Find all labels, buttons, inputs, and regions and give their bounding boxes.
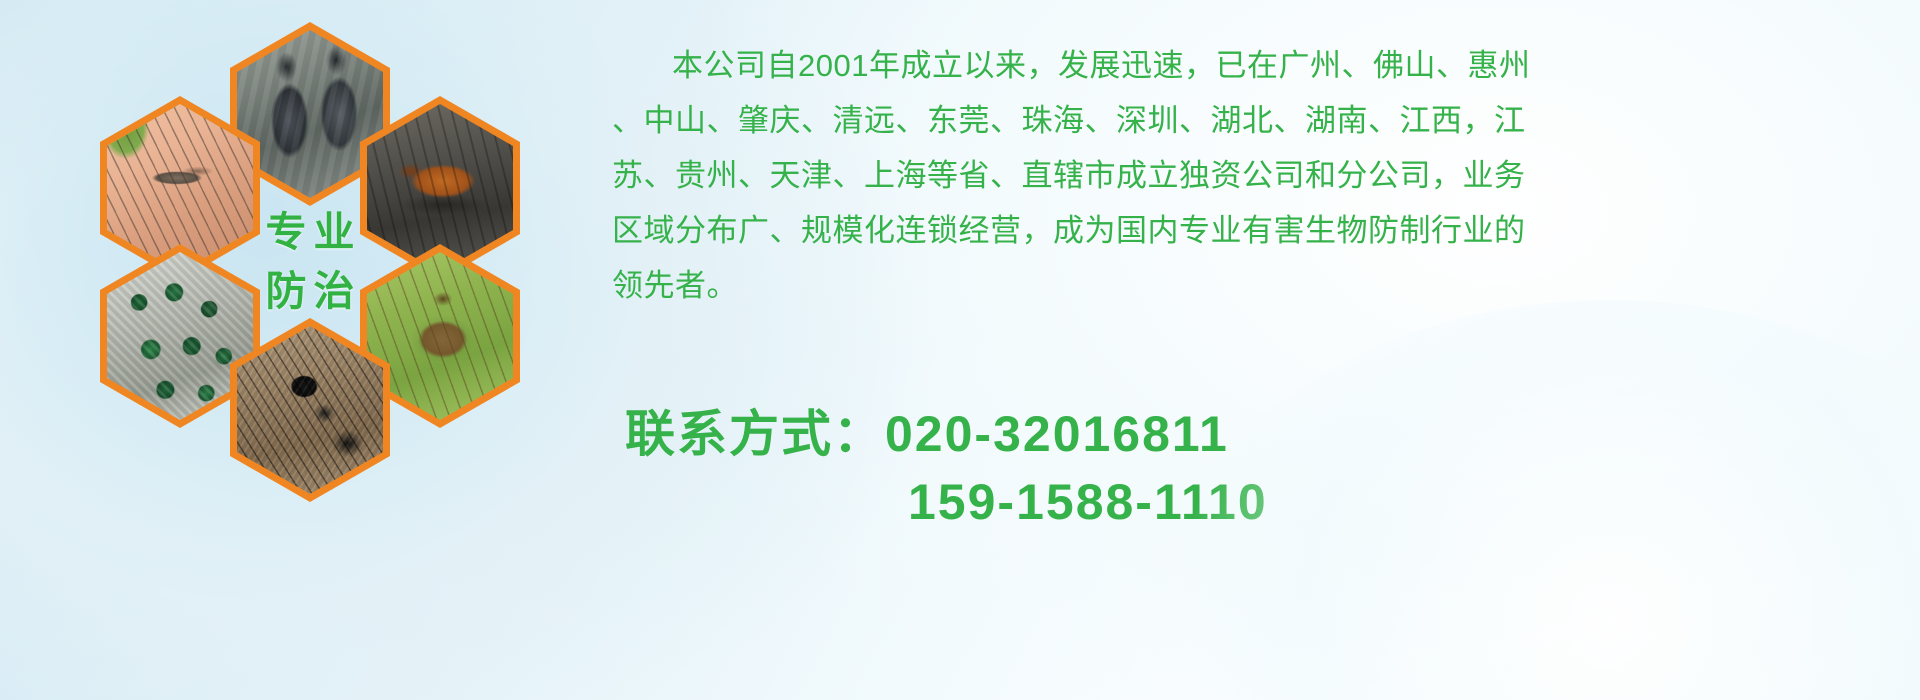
contact-label: 联系方式：: [625, 406, 885, 462]
contact-phone-primary[interactable]: 020-32016811: [885, 406, 1229, 462]
contact-block: 联系方式：020-32016811 159-1588-1110: [625, 400, 1268, 536]
intro-line-2: 、中山、肇庆、清远、东莞、珠海、深圳、湖北、湖南、江西，江: [612, 93, 1902, 148]
intro-line-5: 领先者。: [612, 258, 1902, 313]
slogan-line-1: 专业: [259, 203, 362, 262]
contact-primary-line: 联系方式：020-32016811: [625, 400, 1268, 468]
contact-phone-secondary[interactable]: 159-1588-1110: [625, 468, 1268, 536]
slogan-line-2: 防治: [259, 262, 362, 321]
intro-line-1: 本公司自2001年成立以来，发展迅速，已在广州、佛山、惠州: [612, 38, 1902, 93]
intro-line-1-text: 本公司自2001年成立以来，发展迅速，已在广州、佛山、惠州: [672, 48, 1530, 83]
promo-banner: 专业 防治 本公司自2001年成立以来，发展迅速，已在广州、佛山、惠州 、中山、…: [0, 0, 1920, 700]
intro-line-3: 苏、贵州、天津、上海等省、直辖市成立独资公司和分公司，业务: [612, 148, 1902, 203]
intro-line-4: 区域分布广、规模化连锁经营，成为国内专业有害生物防制行业的: [612, 203, 1902, 258]
honeycomb-collage: 专业 防治: [88, 8, 588, 578]
slogan-text: 专业 防治: [237, 178, 383, 346]
intro-paragraph: 本公司自2001年成立以来，发展迅速，已在广州、佛山、惠州 、中山、肇庆、清远、…: [612, 38, 1902, 313]
